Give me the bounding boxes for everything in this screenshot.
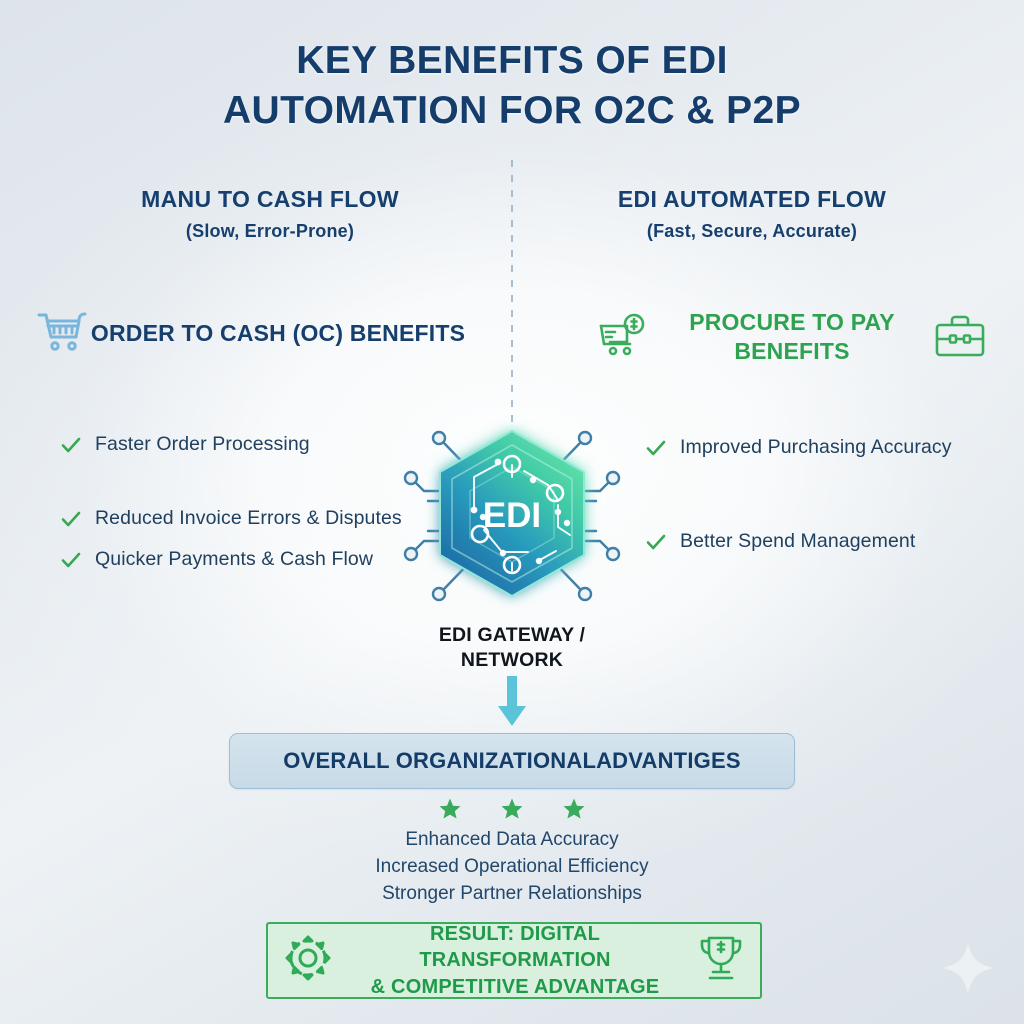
- check-icon: [645, 531, 667, 553]
- gear-icon: [282, 932, 334, 989]
- result-line-1: RESULT: DIGITAL TRANSFORMATION: [419, 923, 610, 971]
- page-title: KEY BENEFITS OF EDI AUTOMATION FOR O2C &…: [0, 36, 1024, 136]
- overall-advantages-banner: OVERALL ORGANIZATIONALADVANTIGES: [229, 733, 795, 789]
- section-heading-procure-to-pay: PROCURE TO PAY BENEFITS: [596, 308, 988, 366]
- advantages-list: Enhanced Data Accuracy Increased Operati…: [0, 826, 1024, 907]
- list-item: Improved Purchasing Accuracy: [645, 436, 952, 459]
- shopping-cart-icon: [36, 308, 90, 359]
- list-item: Better Spend Management: [645, 530, 915, 553]
- column-header-left-subtitle: (Slow, Error-Prone): [60, 221, 480, 242]
- column-header-right: EDI AUTOMATED FLOW (Fast, Secure, Accura…: [542, 186, 962, 242]
- section-heading-order-to-cash: ORDER TO CASH (OC) BENEFITS: [36, 308, 466, 359]
- cart-with-coin-icon: [596, 312, 652, 363]
- list-item-label: Faster Order Processing: [95, 433, 310, 456]
- check-icon: [645, 437, 667, 459]
- star-rating: [0, 797, 1024, 821]
- arrow-down-icon: [492, 676, 532, 728]
- hub-caption: EDI GATEWAY / NETWORK: [0, 623, 1024, 674]
- infographic-canvas: KEY BENEFITS OF EDI AUTOMATION FOR O2C &…: [0, 0, 1024, 1024]
- briefcase-icon: [932, 311, 988, 364]
- list-item: Reduced Invoice Errors & Disputes: [60, 507, 402, 530]
- edi-hub-node: EDI: [398, 405, 626, 627]
- list-item-label: Better Spend Management: [680, 530, 915, 553]
- list-item: Quicker Payments & Cash Flow: [60, 548, 373, 571]
- trophy-dollar-icon: [696, 932, 746, 989]
- column-header-left-title: MANU TO CASH FLOW: [60, 186, 480, 213]
- vertical-dashed-divider: [511, 160, 513, 445]
- section-heading-right-label: PROCURE TO PAY BENEFITS: [652, 308, 932, 366]
- column-header-right-title: EDI AUTOMATED FLOW: [542, 186, 962, 213]
- column-header-left: MANU TO CASH FLOW (Slow, Error-Prone): [60, 186, 480, 242]
- hub-caption-line-2: NETWORK: [0, 648, 1024, 673]
- result-line-2: & COMPETITIVE ADVANTAGE: [371, 976, 660, 998]
- hub-caption-line-1: EDI GATEWAY /: [0, 623, 1024, 648]
- list-item-label: Reduced Invoice Errors & Disputes: [95, 507, 402, 530]
- advantage-item: Enhanced Data Accuracy: [0, 826, 1024, 853]
- star-icon: [500, 797, 524, 821]
- advantage-item: Increased Operational Efficiency: [0, 853, 1024, 880]
- check-icon: [60, 549, 82, 571]
- sparkle-icon: [938, 938, 998, 998]
- column-header-right-subtitle: (Fast, Secure, Accurate): [542, 221, 962, 242]
- check-icon: [60, 508, 82, 530]
- list-item: Faster Order Processing: [60, 433, 310, 456]
- check-icon: [60, 434, 82, 456]
- star-icon: [438, 797, 462, 821]
- title-line-1: KEY BENEFITS OF EDI: [296, 39, 728, 82]
- star-icon: [562, 797, 586, 821]
- list-item-label: Quicker Payments & Cash Flow: [95, 548, 373, 571]
- overall-advantages-label: OVERALL ORGANIZATIONALADVANTIGES: [283, 748, 740, 774]
- title-line-2: AUTOMATION FOR O2C & P2P: [0, 86, 1024, 136]
- result-banner-text: RESULT: DIGITAL TRANSFORMATION & COMPETI…: [334, 921, 696, 1000]
- result-banner: RESULT: DIGITAL TRANSFORMATION & COMPETI…: [266, 922, 762, 999]
- hub-node-label: EDI: [483, 496, 541, 535]
- advantage-item: Stronger Partner Relationships: [0, 880, 1024, 907]
- list-item-label: Improved Purchasing Accuracy: [680, 436, 952, 459]
- section-heading-left-label: ORDER TO CASH (OC) BENEFITS: [90, 319, 466, 348]
